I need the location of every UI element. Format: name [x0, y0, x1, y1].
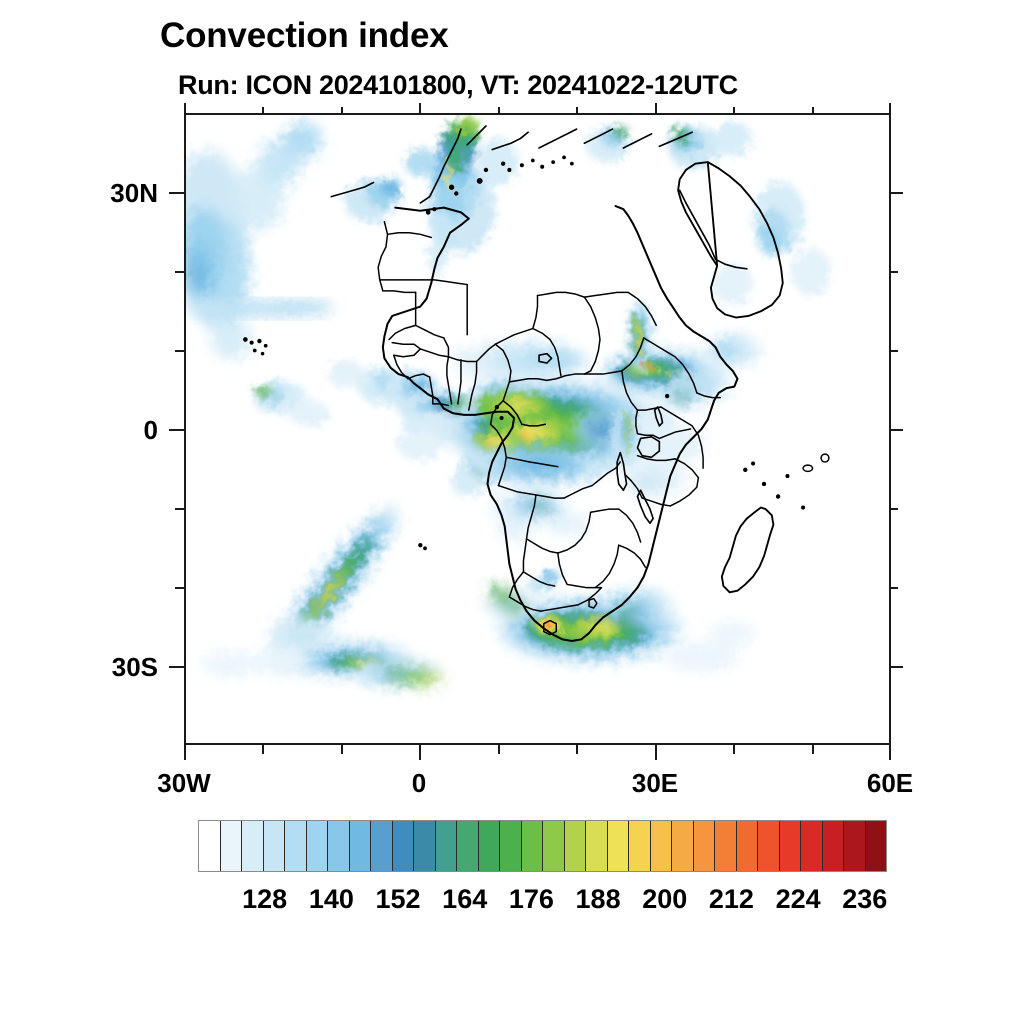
- colorbar-cell: [285, 821, 307, 871]
- y-axis-label-30n: 30N: [48, 178, 158, 209]
- x-tick-10e: [498, 745, 500, 754]
- colorbar-cell: [500, 821, 522, 871]
- x-tick-top-10w: [341, 107, 343, 114]
- y-tick-30n: [169, 192, 184, 194]
- y-axis-label-0: 0: [48, 415, 158, 446]
- colorbar-cell: [565, 821, 587, 871]
- x-tick-50e: [812, 745, 814, 754]
- x-axis-label-30w: 30W: [114, 768, 254, 799]
- colorbar-cell: [823, 821, 845, 871]
- x-tick-0: [419, 745, 421, 760]
- x-tick-20w: [262, 745, 264, 754]
- y-axis-label-30s: 30S: [48, 652, 158, 683]
- x-tick-top-60e: [889, 103, 891, 114]
- colorbar-cell: [758, 821, 780, 871]
- x-axis-label-30e: 30E: [585, 768, 725, 799]
- colorbar-cell: [479, 821, 501, 871]
- x-tick-top-30w: [184, 103, 186, 114]
- x-tick-top-10e: [498, 107, 500, 114]
- x-tick-top-20e: [576, 107, 578, 114]
- y-tick-10n: [175, 350, 184, 352]
- colorbar-cell: [328, 821, 350, 871]
- colorbar-cell: [737, 821, 759, 871]
- colorbar-cell: [844, 821, 866, 871]
- colorbar: [198, 820, 887, 872]
- colorbar-cell: [199, 821, 221, 871]
- colorbar-cell: [221, 821, 243, 871]
- x-tick-top-40e: [733, 107, 735, 114]
- x-tick-30w: [184, 745, 186, 760]
- chart-subtitle: Run: ICON 2024101800, VT: 20241022-12UTC: [178, 70, 738, 101]
- colorbar-cell: [866, 821, 887, 871]
- map-plot-area: [184, 113, 891, 745]
- y-tick-10s: [175, 508, 184, 510]
- colorbar-cell: [780, 821, 802, 871]
- x-tick-30e: [655, 745, 657, 760]
- africa-map-svg: [186, 115, 889, 743]
- x-tick-top-30e: [655, 103, 657, 114]
- field-sahel: [455, 342, 589, 383]
- colorbar-cell: [651, 821, 673, 871]
- x-axis-label-60e: 60E: [820, 768, 960, 799]
- x-tick-20e: [576, 745, 578, 754]
- y-tick-right-20n: [891, 271, 898, 273]
- x-tick-10w: [341, 745, 343, 754]
- x-tick-top-20w: [262, 107, 264, 114]
- y-tick-right-30s: [891, 666, 903, 668]
- x-tick-top-0: [419, 103, 421, 114]
- y-tick-right-30n: [891, 192, 903, 194]
- colorbar-cell: [522, 821, 544, 871]
- field-atlantic-streak: [186, 300, 334, 317]
- colorbar-cell: [371, 821, 393, 871]
- page-title: Convection index: [160, 16, 449, 56]
- colorbar-cell: [629, 821, 651, 871]
- colorbar-cell: [436, 821, 458, 871]
- colorbar-cell: [307, 821, 329, 871]
- colorbar-cell: [414, 821, 436, 871]
- y-tick-20n: [175, 271, 184, 273]
- colorbar-cell: [586, 821, 608, 871]
- colorbar-cell: [543, 821, 565, 871]
- colorbar-cell: [801, 821, 823, 871]
- y-tick-right-20s: [891, 587, 898, 589]
- y-tick-right-10n: [891, 350, 898, 352]
- convection-index-chart: Convection index Run: ICON 2024101800, V…: [0, 0, 1024, 1024]
- colorbar-cell: [350, 821, 372, 871]
- x-tick-top-50e: [812, 107, 814, 114]
- y-tick-30s: [169, 666, 184, 668]
- colorbar-cell: [264, 821, 286, 871]
- colorbar-cell: [608, 821, 630, 871]
- colorbar-cell: [242, 821, 264, 871]
- y-tick-right-10s: [891, 508, 898, 510]
- y-tick-20s: [175, 587, 184, 589]
- x-tick-40e: [733, 745, 735, 754]
- y-tick-right-0: [891, 429, 903, 431]
- colorbar-cell: [694, 821, 716, 871]
- x-tick-60e: [889, 745, 891, 760]
- colorbar-tick-label: 236: [820, 884, 910, 915]
- colorbar-cell: [715, 821, 737, 871]
- colorbar-cell: [672, 821, 694, 871]
- y-tick-0: [169, 429, 184, 431]
- colorbar-cell: [457, 821, 479, 871]
- colorbar-cell: [393, 821, 415, 871]
- x-axis-label-0: 0: [349, 768, 489, 799]
